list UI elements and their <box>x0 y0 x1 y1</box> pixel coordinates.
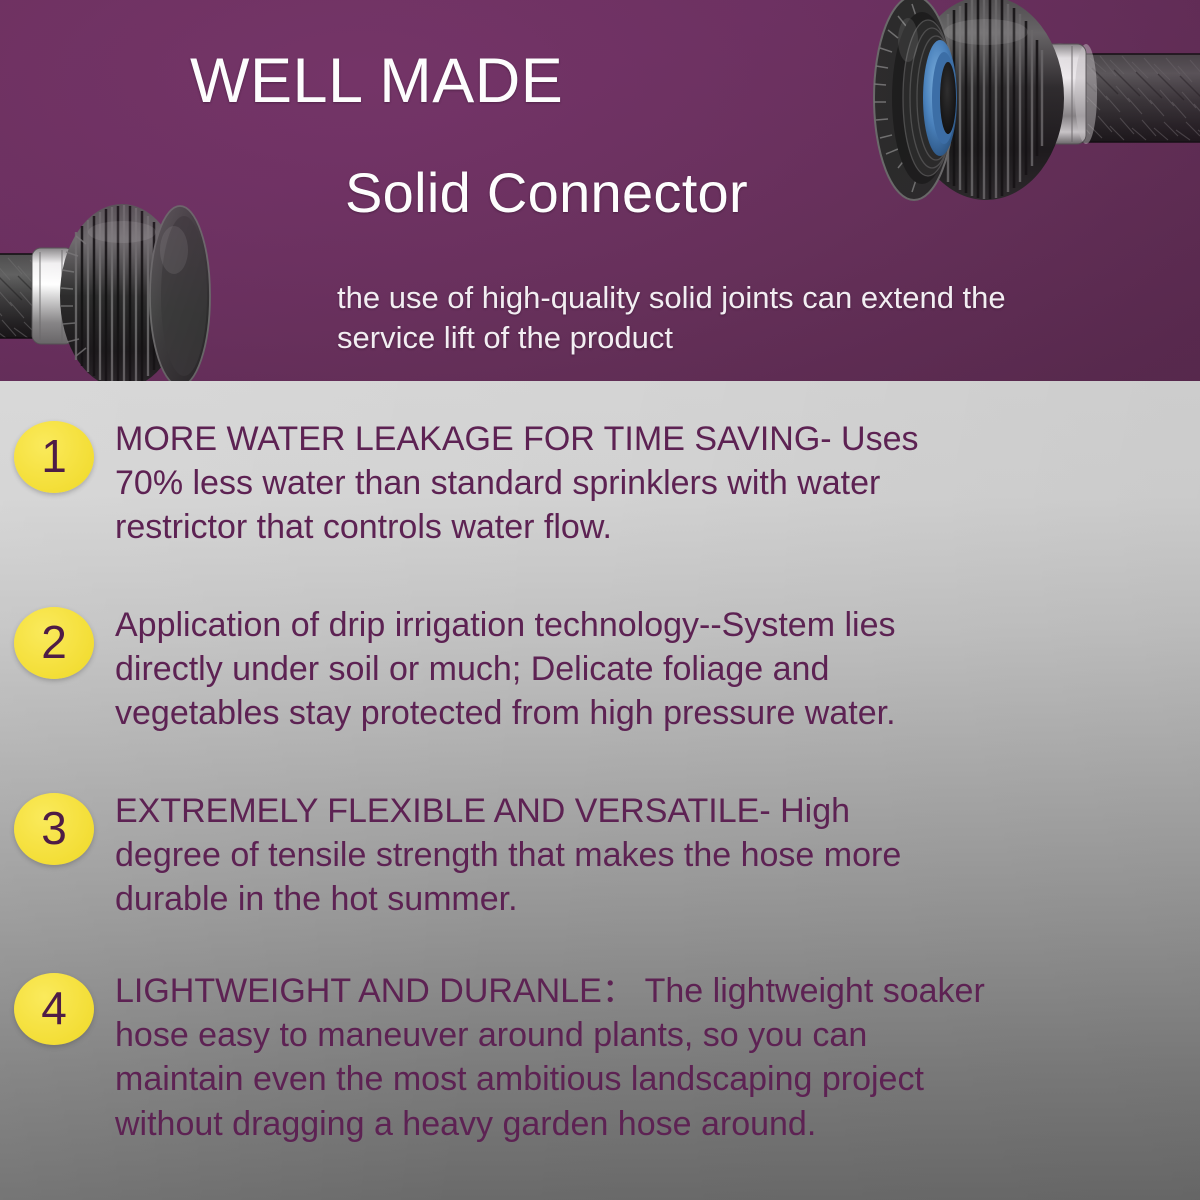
feature-text-3: EXTREMELY FLEXIBLE AND VERSATILE- High d… <box>115 789 1190 922</box>
feature-item-4: 4 LIGHTWEIGHT AND DURANLE： The lightweig… <box>0 969 1200 1146</box>
tagline-line-2: service lift of the product <box>337 318 1127 358</box>
feature-text-1: MORE WATER LEAKAGE FOR TIME SAVING- Uses… <box>115 417 1190 550</box>
hose-connector-photo-top-right <box>836 0 1200 268</box>
header-banner: WELL MADE Solid Connector the use of hig… <box>0 0 1200 381</box>
feature-4-line-1: LIGHTWEIGHT AND DURANLE： The lightweight… <box>115 969 1190 1013</box>
feature-badge-2: 2 <box>14 607 94 679</box>
feature-item-2: 2 Application of drip irrigation technol… <box>0 603 1200 736</box>
feature-4-line-3: maintain even the most ambitious landsca… <box>115 1057 1190 1101</box>
hose-connector-photo-bottom-left <box>0 196 286 381</box>
feature-4-line-2: hose easy to maneuver around plants, so … <box>115 1013 1190 1057</box>
feature-1-line-1: MORE WATER LEAKAGE FOR TIME SAVING- Uses <box>115 417 1190 461</box>
feature-badge-3: 3 <box>14 793 94 865</box>
tagline-line-1: the use of high-quality solid joints can… <box>337 278 1127 318</box>
feature-number-2: 2 <box>41 619 67 665</box>
page-title: WELL MADE <box>190 50 563 113</box>
feature-2-line-3: vegetables stay protected from high pres… <box>115 691 1190 735</box>
feature-badge-4: 4 <box>14 973 94 1045</box>
feature-2-line-1: Application of drip irrigation technolog… <box>115 603 1190 647</box>
feature-1-line-3: restrictor that controls water flow. <box>115 505 1190 549</box>
feature-3-line-2: degree of tensile strength that makes th… <box>115 833 1190 877</box>
feature-badge-1: 1 <box>14 421 94 493</box>
feature-text-4: LIGHTWEIGHT AND DURANLE： The lightweight… <box>115 969 1190 1146</box>
feature-item-3: 3 EXTREMELY FLEXIBLE AND VERSATILE- High… <box>0 789 1200 922</box>
page-subtitle: Solid Connector <box>345 165 748 221</box>
header-tagline: the use of high-quality solid joints can… <box>337 278 1127 359</box>
feature-4-line-4: without dragging a heavy garden hose aro… <box>115 1102 1190 1146</box>
feature-number-4: 4 <box>41 985 67 1031</box>
feature-list: 1 MORE WATER LEAKAGE FOR TIME SAVING- Us… <box>0 381 1200 1200</box>
feature-item-1: 1 MORE WATER LEAKAGE FOR TIME SAVING- Us… <box>0 417 1200 550</box>
feature-text-2: Application of drip irrigation technolog… <box>115 603 1190 736</box>
feature-3-line-1: EXTREMELY FLEXIBLE AND VERSATILE- High <box>115 789 1190 833</box>
feature-3-line-3: durable in the hot summer. <box>115 877 1190 921</box>
feature-2-line-2: directly under soil or much; Delicate fo… <box>115 647 1190 691</box>
feature-number-3: 3 <box>41 805 67 851</box>
feature-number-1: 1 <box>41 433 67 479</box>
product-infographic: WELL MADE Solid Connector the use of hig… <box>0 0 1200 1200</box>
feature-1-line-2: 70% less water than standard sprinklers … <box>115 461 1190 505</box>
